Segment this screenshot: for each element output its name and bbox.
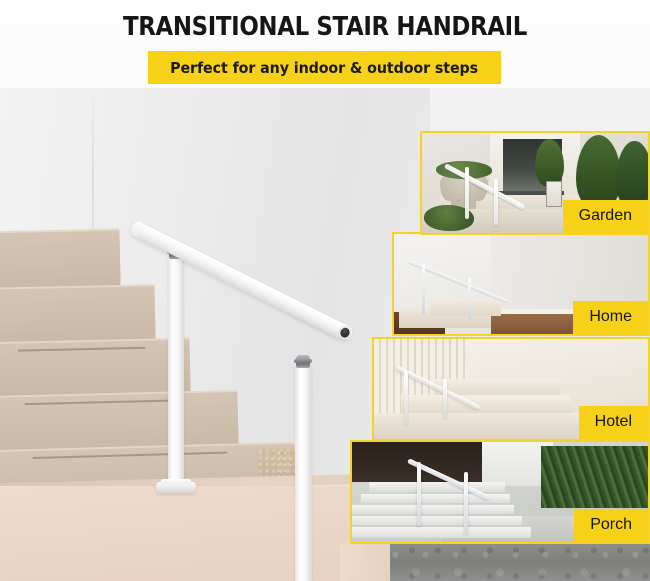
header: TRANSITIONAL STAIR HANDRAIL Perfect for … — [0, 0, 650, 100]
porch-tread-3 — [352, 505, 514, 514]
thumbnail-porch[interactable]: Porch — [350, 440, 650, 544]
porch-tread-4 — [352, 516, 522, 525]
porch-handrail-post-b — [464, 472, 468, 534]
subtitle-text: Perfect for any indoor & outdoor steps — [171, 59, 479, 77]
garden-lantern — [546, 181, 562, 207]
stair-step-3 — [0, 338, 191, 399]
thumbnail-garden[interactable]: Garden — [420, 131, 650, 235]
hotel-handrail-post-a — [404, 371, 408, 425]
post-connector-front — [296, 355, 310, 368]
thumbnail-home[interactable]: Home — [392, 232, 650, 336]
handrail-post-rear — [168, 256, 184, 488]
garden-handrail-post-a — [465, 167, 469, 219]
thumbnail-label-garden: Garden — [563, 200, 648, 233]
stair-step-2 — [0, 284, 156, 345]
home-handrail-post-b — [468, 278, 471, 320]
stair-step-1 — [0, 229, 121, 292]
thumbnail-label-home: Home — [573, 301, 648, 334]
home-step-upper — [430, 298, 501, 316]
product-banner: TRANSITIONAL STAIR HANDRAIL Perfect for … — [0, 0, 650, 581]
subtitle-banner: Perfect for any indoor & outdoor steps — [148, 51, 501, 84]
page-title: TRANSITIONAL STAIR HANDRAIL — [39, 12, 611, 42]
concrete-pavement-band — [390, 543, 650, 581]
porch-tread-1 — [369, 482, 505, 491]
porch-handrail-post-a — [417, 462, 421, 526]
hotel-step-lower — [401, 395, 571, 413]
garden-handrail-post-b — [494, 179, 498, 225]
post-base-flange-rear — [156, 482, 196, 494]
porch-step-stack — [352, 480, 565, 542]
home-handrail-post-a — [422, 264, 425, 314]
handrail-post-front — [295, 366, 312, 581]
porch-tread-5 — [352, 527, 531, 538]
lower-floor-strip — [340, 543, 395, 581]
thumbnail-label-porch: Porch — [574, 509, 648, 542]
thumbnail-label-hotel: Hotel — [579, 406, 648, 439]
hotel-handrail-post-b — [443, 379, 447, 419]
thumbnail-hotel[interactable]: Hotel — [372, 337, 650, 441]
